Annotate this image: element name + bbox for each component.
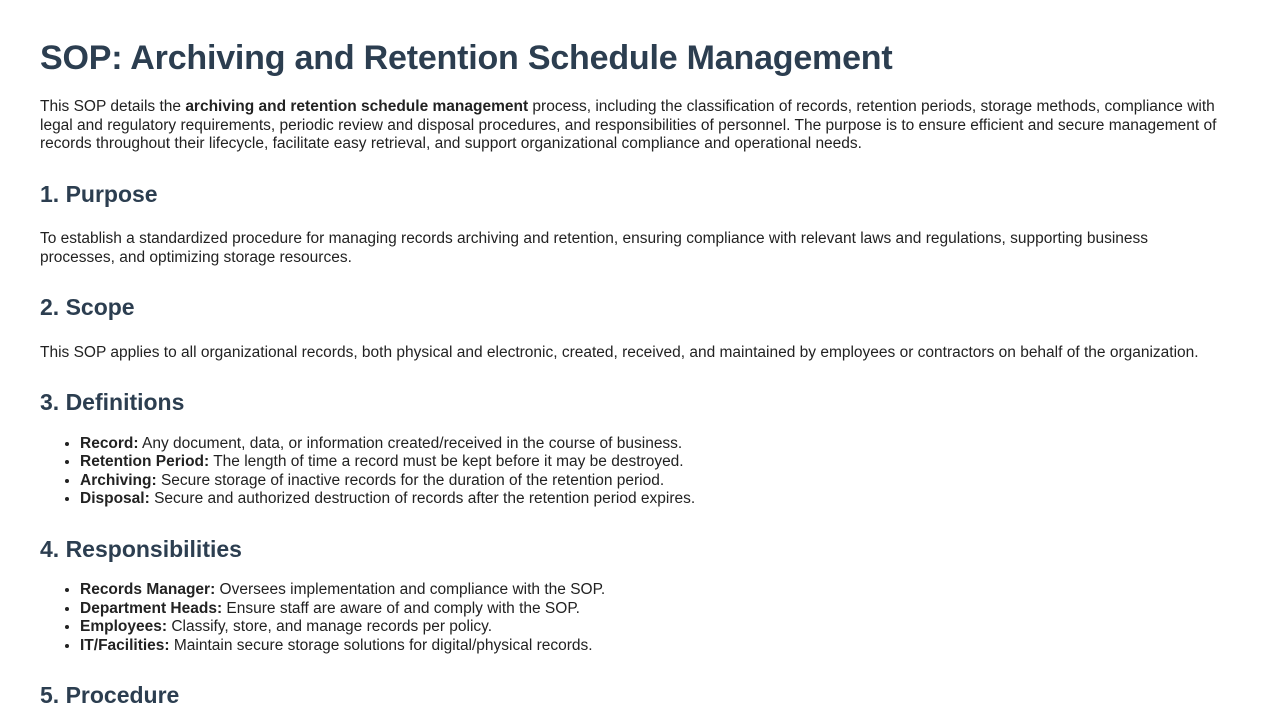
section-responsibilities: 4. Responsibilities Records Manager: Ove… (40, 509, 1223, 656)
list-item: Records Manager: Oversees implementation… (80, 581, 1223, 600)
section-definitions: 3. Definitions Record: Any document, dat… (40, 362, 1223, 509)
section-scope: 2. Scope This SOP applies to all organiz… (40, 267, 1223, 362)
list-item-text: Classify, store, and manage records per … (167, 618, 492, 635)
list-item: Archiving: Secure storage of inactive re… (80, 472, 1223, 491)
section-heading-purpose: 1. Purpose (40, 154, 1223, 209)
list-item: Record: Any document, data, or informati… (80, 435, 1223, 454)
section-body-scope: This SOP applies to all organizational r… (40, 322, 1223, 363)
document-page: SOP: Archiving and Retention Schedule Ma… (0, 0, 1263, 710)
definitions-list: Record: Any document, data, or informati… (40, 417, 1223, 509)
list-item-term: Record: (80, 435, 139, 452)
intro-bold-term: archiving and retention schedule managem… (185, 98, 528, 115)
page-title: SOP: Archiving and Retention Schedule Ma… (40, 0, 1223, 78)
list-item-text: The length of time a record must be kept… (209, 453, 683, 470)
list-item-term: Disposal: (80, 490, 150, 507)
intro-paragraph: This SOP details the archiving and reten… (40, 78, 1223, 154)
list-item-term: Archiving: (80, 472, 157, 489)
list-item-text: Any document, data, or information creat… (139, 435, 683, 452)
list-item: IT/Facilities: Maintain secure storage s… (80, 637, 1223, 656)
list-item: Disposal: Secure and authorized destruct… (80, 490, 1223, 509)
section-heading-definitions: 3. Definitions (40, 362, 1223, 417)
list-item-text: Ensure staff are aware of and comply wit… (222, 600, 580, 617)
list-item-text: Secure and authorized destruction of rec… (150, 490, 695, 507)
list-item-term: Retention Period: (80, 453, 209, 470)
list-item-term: Records Manager: (80, 581, 215, 598)
list-item-text: Oversees implementation and compliance w… (215, 581, 605, 598)
section-purpose: 1. Purpose To establish a standardized p… (40, 154, 1223, 268)
intro-text-before: This SOP details the (40, 98, 185, 115)
list-item-text: Maintain secure storage solutions for di… (170, 637, 593, 654)
section-heading-scope: 2. Scope (40, 267, 1223, 322)
list-item-term: Department Heads: (80, 600, 222, 617)
section-heading-responsibilities: 4. Responsibilities (40, 509, 1223, 564)
section-body-purpose: To establish a standardized procedure fo… (40, 208, 1223, 267)
section-heading-procedure: 5. Procedure (40, 655, 1223, 710)
list-item-term: IT/Facilities: (80, 637, 170, 654)
section-procedure: 5. Procedure (40, 655, 1223, 710)
list-item-text: Secure storage of inactive records for t… (157, 472, 665, 489)
list-item: Employees: Classify, store, and manage r… (80, 618, 1223, 637)
list-item-term: Employees: (80, 618, 167, 635)
list-item: Department Heads: Ensure staff are aware… (80, 600, 1223, 619)
responsibilities-list: Records Manager: Oversees implementation… (40, 563, 1223, 655)
list-item: Retention Period: The length of time a r… (80, 453, 1223, 472)
